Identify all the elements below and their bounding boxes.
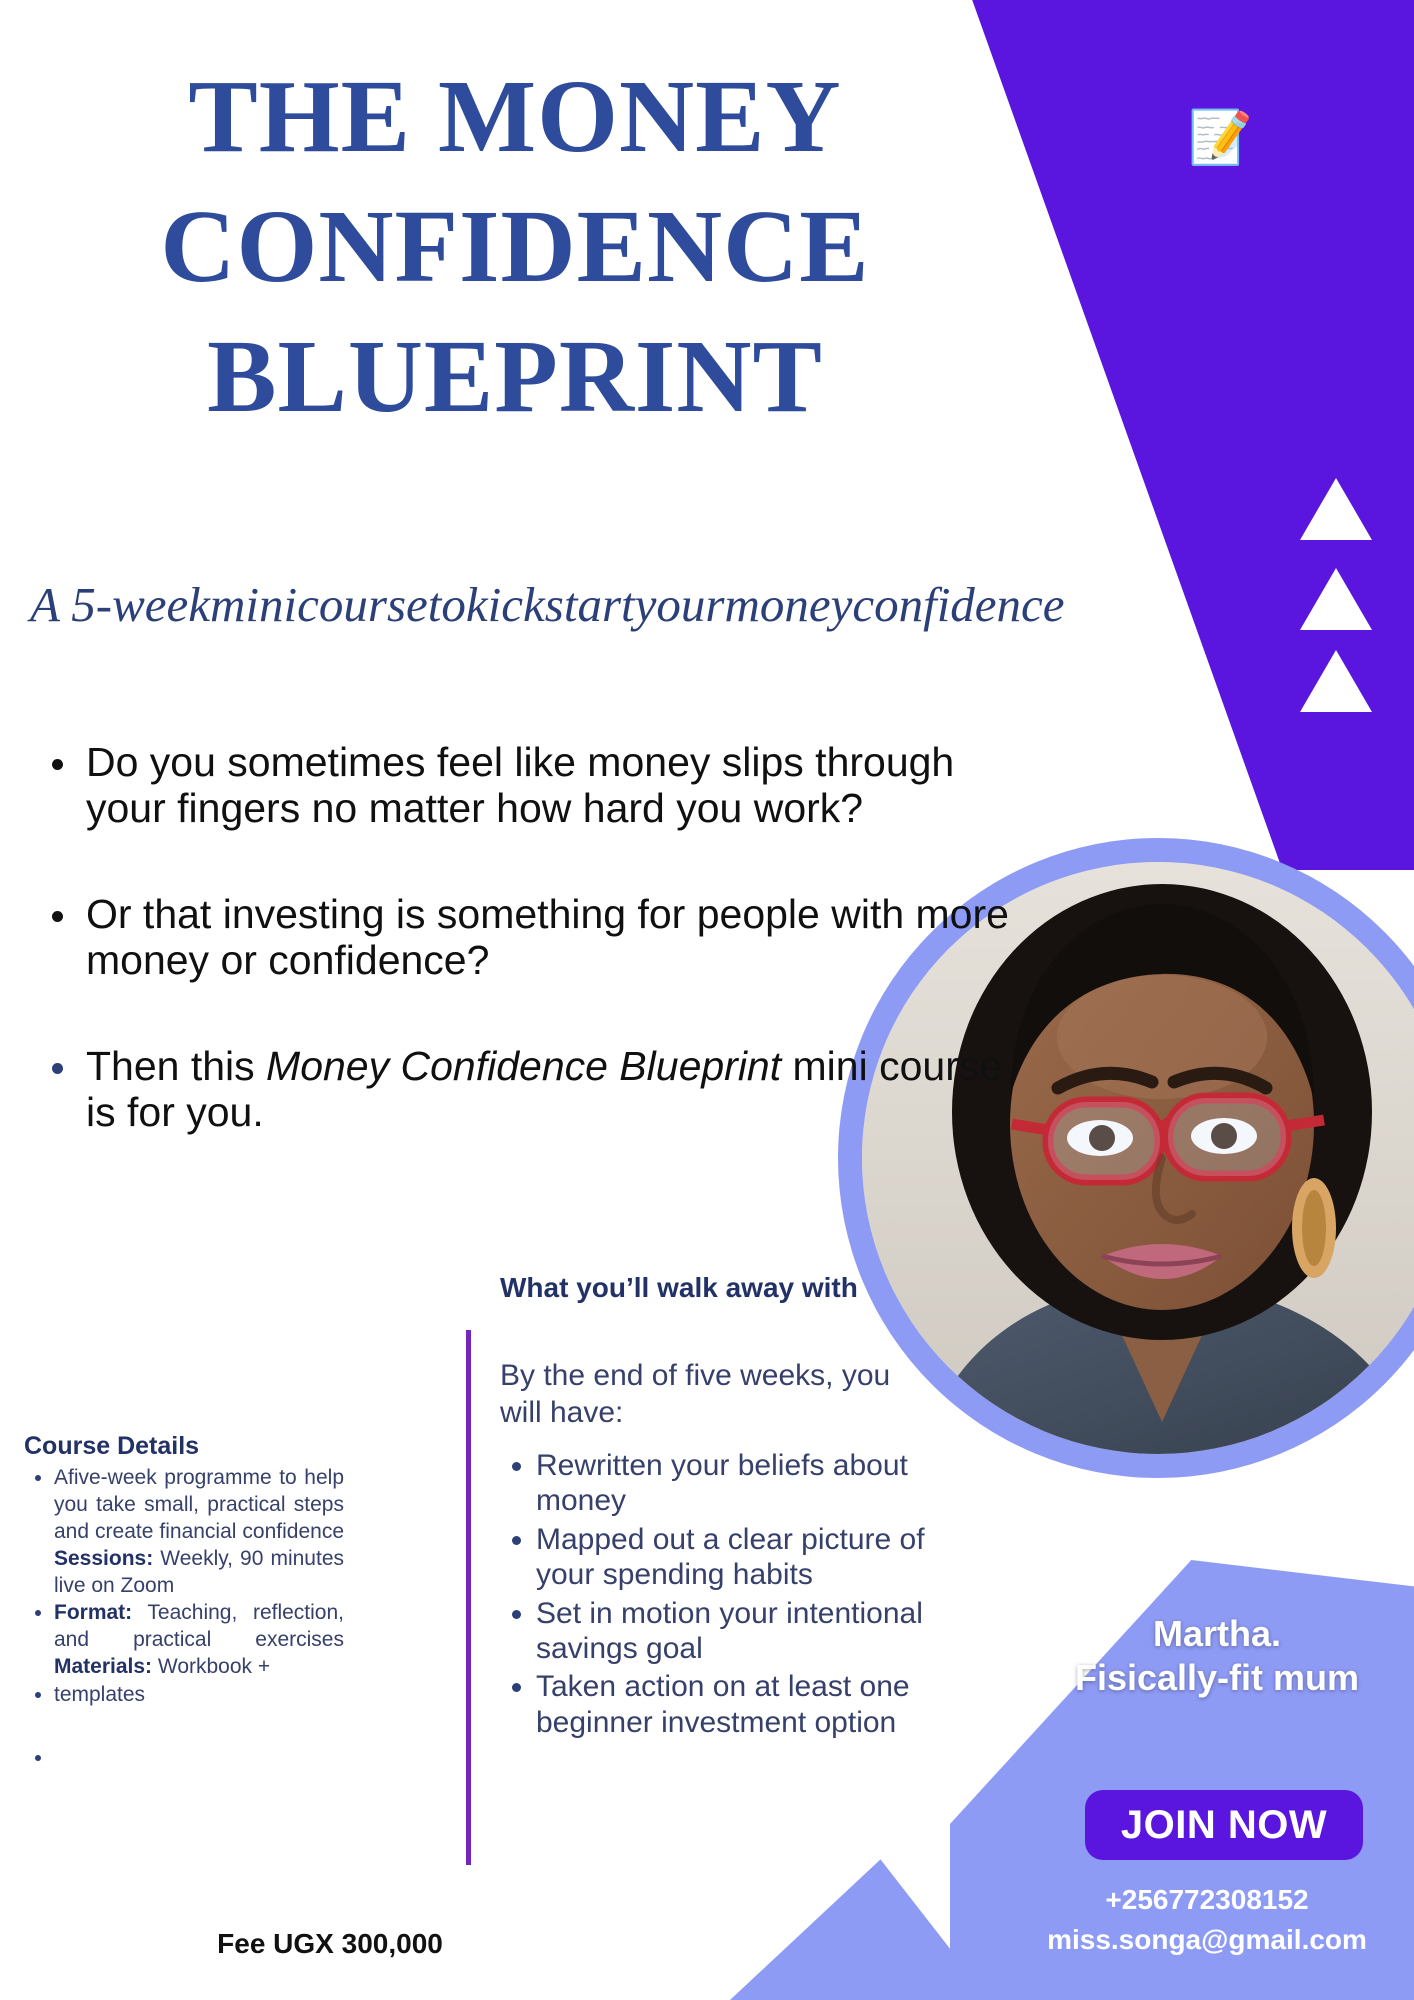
poster-canvas: 📝 THE MONEY CONFIDENCE BLUEPRINT A 5-wee… <box>0 0 1414 2000</box>
hero-bullet-2: Or that investing is something for peopl… <box>28 892 1018 984</box>
course-detail-item: Afive-week programme to help you take sm… <box>54 1465 344 1599</box>
walk-away-item: Set in motion your intentional savings g… <box>536 1596 986 1667</box>
contact-block: +256772308152 miss.songa@gmail.com <box>1000 1880 1414 1960</box>
course-detail-label: Format: <box>54 1601 132 1624</box>
vertical-divider <box>466 1330 471 1865</box>
portrait-caption-role: Fisically-fit mum <box>1020 1656 1414 1700</box>
hero-bullet-3: Then this Money Confidence Blueprint min… <box>28 1044 1018 1136</box>
walk-away-item: Taken action on at least one beginner in… <box>536 1669 986 1740</box>
walk-away-heading: What you’ll walk away with <box>500 1272 940 1304</box>
course-detail-text: Workbook + <box>152 1655 270 1678</box>
portrait-caption: Martha. Fisically-fit mum <box>1020 1612 1414 1700</box>
walk-away-item: Rewritten your beliefs about money <box>536 1448 986 1519</box>
join-now-button[interactable]: JOIN NOW <box>1085 1790 1363 1860</box>
course-detail-label: Materials: <box>54 1655 152 1678</box>
hero-bullet-text: Or that investing is something for peopl… <box>86 891 1009 983</box>
contact-phone[interactable]: +256772308152 <box>1000 1880 1414 1920</box>
course-detail-text: Afive-week programme to help you take sm… <box>54 1466 344 1543</box>
walk-away-intro: By the end of five weeks, you will have: <box>500 1358 940 1431</box>
course-detail-item: templates <box>54 1682 344 1709</box>
course-detail-label: Sessions: <box>54 1547 153 1570</box>
walk-away-list: Rewritten your beliefs about money Mappe… <box>500 1448 986 1743</box>
poster-subtitle: A 5-weekminicoursetokickstartyourmoneyco… <box>30 578 1210 632</box>
hero-bullet-1: Do you sometimes feel like money slips t… <box>28 740 1018 832</box>
portrait-caption-name: Martha. <box>1020 1612 1414 1656</box>
course-detail-item: Format: Teaching, reflection, and practi… <box>54 1600 344 1681</box>
course-detail-item-empty <box>54 1745 344 1775</box>
contact-email[interactable]: miss.songa@gmail.com <box>1000 1920 1414 1960</box>
course-details-list: Afive-week programme to help you take sm… <box>24 1465 344 1775</box>
course-details-block: Course Details Afive-week programme to h… <box>24 1432 344 1776</box>
triangle-icon-1 <box>1300 478 1372 540</box>
memo-icon: 📝 <box>1188 108 1248 168</box>
hero-bullet-text: Then this <box>86 1043 266 1089</box>
walk-away-item: Mapped out a clear picture of your spend… <box>536 1522 986 1593</box>
course-details-heading: Course Details <box>24 1432 344 1461</box>
triangle-icon-2 <box>1300 568 1372 630</box>
hero-bullet-text: Do you sometimes feel like money slips t… <box>86 739 954 831</box>
hero-bullet-emphasis: Money Confidence Blueprint <box>266 1043 781 1089</box>
fee-label: Fee UGX 300,000 <box>120 1928 540 1960</box>
poster-title: THE MONEY CONFIDENCE BLUEPRINT <box>120 52 910 442</box>
hero-bullet-list: Do you sometimes feel like money slips t… <box>28 740 1018 1195</box>
course-detail-text: templates <box>54 1683 145 1706</box>
triangle-icon-3 <box>1300 650 1372 712</box>
